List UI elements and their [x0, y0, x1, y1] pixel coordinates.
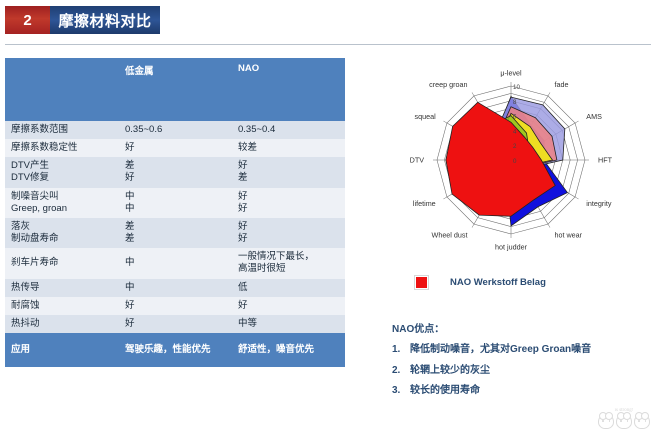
list-item: 1. 降低制动噪音，尤其对Greep Groan噪音 — [392, 344, 652, 356]
nao-advantages-block: NAO优点： 1. 降低制动噪音，尤其对Greep Groan噪音 2. 轮辋上… — [392, 320, 652, 406]
row-label: 热传导 — [5, 279, 119, 297]
svg-text:μ-level: μ-level — [500, 68, 522, 77]
svg-text:creep groan: creep groan — [429, 80, 467, 89]
svg-text:DTV: DTV — [410, 155, 425, 164]
table-row: 刹车片寿命 中 一般情况下最长， 高温时很短 — [5, 248, 345, 278]
svg-text:6: 6 — [513, 114, 517, 121]
cell-nao: 好 好 — [232, 218, 345, 248]
list-item: 3. 较长的使用寿命 — [392, 385, 652, 397]
cell-nao: 较差 — [232, 139, 345, 157]
svg-text:hot wear: hot wear — [555, 231, 583, 240]
svg-text:hot judder: hot judder — [495, 242, 528, 251]
table-row: 摩擦系数范围 0.35~0.6 0.35~0.4 — [5, 121, 345, 139]
legend-label-nao: NAO Werkstoff Belag — [450, 277, 546, 288]
svg-text:8: 8 — [513, 99, 517, 106]
row-label: 热抖动 — [5, 315, 119, 333]
svg-text:0: 0 — [513, 158, 517, 165]
row-label: 摩擦系数稳定性 — [5, 139, 119, 157]
cell-low-metal: 好 — [119, 139, 232, 157]
cell-nao: 好 差 — [232, 157, 345, 187]
svg-text:fade: fade — [555, 80, 569, 89]
list-item-text: 较长的使用寿命 — [410, 385, 652, 397]
svg-text:squeal: squeal — [415, 112, 437, 121]
cell-low-metal: 中 中 — [119, 188, 232, 218]
list-item-number: 3. — [392, 385, 410, 397]
radar-chart: 1086420μ-levelfadeAMSHFTintegrityhot wea… — [378, 58, 656, 263]
notes-title: NAO优点： — [392, 320, 652, 335]
column-header-low-metal: 低金属 — [119, 58, 232, 121]
table-head: 低金属 NAO — [5, 58, 345, 121]
table-row: DTV产生 DTV修复 差 好 好 差 — [5, 157, 345, 187]
table-footer-row: 应用 驾驶乐趣，性能优先 舒适性，噪音优先 — [5, 333, 345, 367]
list-item-text: 轮辋上较少的灰尘 — [410, 365, 652, 377]
svg-text:2: 2 — [513, 143, 517, 150]
svg-text:HFT: HFT — [598, 155, 613, 164]
cell-nao: 中等 — [232, 315, 345, 333]
column-header-nao: NAO — [232, 58, 345, 121]
footer-cell-low-metal: 驾驶乐趣，性能优先 — [119, 333, 232, 367]
radar-chart-svg: 1086420μ-levelfadeAMSHFTintegrityhot wea… — [378, 58, 656, 263]
column-header-property — [5, 58, 119, 121]
list-item-text: 降低制动噪音，尤其对Greep Groan噪音 — [410, 344, 652, 356]
cell-nao: 一般情况下最长， 高温时很短 — [232, 248, 345, 278]
cat-face-icon — [616, 414, 632, 429]
cell-low-metal: 好 — [119, 297, 232, 315]
footer-label: 应用 — [5, 333, 119, 367]
watermark-faces — [596, 414, 652, 429]
svg-text:AMS: AMS — [586, 112, 602, 121]
cat-face-icon — [634, 414, 650, 429]
cell-low-metal: 差 差 — [119, 218, 232, 248]
cell-low-metal: 0.35~0.6 — [119, 121, 232, 139]
list-item: 2. 轮辋上较少的灰尘 — [392, 365, 652, 377]
table-row: 耐腐蚀 好 好 — [5, 297, 345, 315]
page-title: 摩擦材料对比 — [50, 6, 160, 34]
table-row: 热传导 中 低 — [5, 279, 345, 297]
table-header-row: 低金属 NAO — [5, 58, 345, 121]
comparison-table: 低金属 NAO 摩擦系数范围 0.35~0.6 0.35~0.4 摩擦系数稳定性… — [5, 58, 345, 367]
row-label: 刹车片寿命 — [5, 248, 119, 278]
slide-number-badge: 2 — [5, 6, 50, 34]
row-label: 落灰 制动盘寿命 — [5, 218, 119, 248]
cell-nao: 好 — [232, 297, 345, 315]
table-row: 落灰 制动盘寿命 差 差 好 好 — [5, 218, 345, 248]
row-label: 摩擦系数范围 — [5, 121, 119, 139]
footer-cell-nao: 舒适性，噪音优先 — [232, 333, 345, 367]
svg-text:10: 10 — [513, 84, 520, 91]
cell-low-metal: 好 — [119, 315, 232, 333]
cell-low-metal: 差 好 — [119, 157, 232, 187]
header-divider — [5, 44, 651, 45]
comparison-table-wrapper: 低金属 NAO 摩擦系数范围 0.35~0.6 0.35~0.4 摩擦系数稳定性… — [5, 58, 345, 367]
table-row: 制噪音尖叫 Greep, groan 中 中 好 好 — [5, 188, 345, 218]
legend-swatch-nao — [415, 276, 428, 289]
cell-nao: 0.35~0.4 — [232, 121, 345, 139]
list-item-number: 2. — [392, 365, 410, 377]
chart-legend: NAO Werkstoff Belag — [415, 276, 546, 289]
table-row: 热抖动 好 中等 — [5, 315, 345, 333]
row-label: DTV产生 DTV修复 — [5, 157, 119, 187]
cell-low-metal: 中 — [119, 248, 232, 278]
svg-text:Wheel dust: Wheel dust — [432, 231, 468, 240]
cell-nao: 低 — [232, 279, 345, 297]
watermark: is strong! — [596, 408, 652, 442]
cell-nao: 好 好 — [232, 188, 345, 218]
svg-text:lifetime: lifetime — [413, 199, 436, 208]
cat-face-icon — [598, 414, 614, 429]
cell-low-metal: 中 — [119, 279, 232, 297]
svg-text:integrity: integrity — [586, 199, 612, 208]
slide-header: 2 摩擦材料对比 — [0, 6, 656, 36]
table-body: 摩擦系数范围 0.35~0.6 0.35~0.4 摩擦系数稳定性 好 较差 DT… — [5, 121, 345, 367]
svg-text:4: 4 — [513, 128, 517, 135]
row-label: 耐腐蚀 — [5, 297, 119, 315]
row-label: 制噪音尖叫 Greep, groan — [5, 188, 119, 218]
list-item-number: 1. — [392, 344, 410, 356]
table-row: 摩擦系数稳定性 好 较差 — [5, 139, 345, 157]
